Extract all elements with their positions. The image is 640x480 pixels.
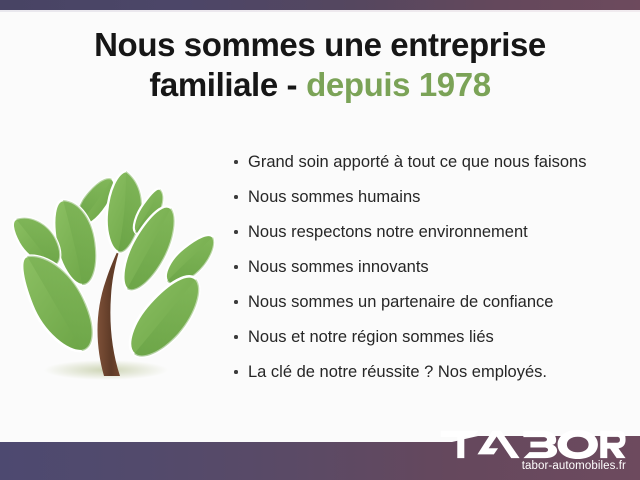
list-item-label: Nous respectons notre environnement — [248, 223, 528, 241]
tabor-wordmark-icon — [439, 429, 627, 459]
brand-url-label: tabor-automobiles.fr — [426, 460, 626, 473]
value-proposition-list: Grand soin apporté à tout ce que nous fa… — [231, 150, 631, 395]
headline-line-2: familiale -depuis 1978 — [0, 66, 640, 104]
top-accent-bar — [0, 0, 640, 10]
list-item-label: Nous sommes innovants — [248, 258, 429, 276]
list-item: Nous sommes humains — [231, 185, 631, 220]
list-item-label: Nous sommes humains — [248, 188, 420, 206]
tree-illustration — [8, 138, 218, 390]
list-item: Nous sommes un partenaire de confiance — [231, 290, 631, 325]
list-item: Nous sommes innovants — [231, 255, 631, 290]
headline-line-1: Nous sommes une entreprise — [0, 26, 640, 64]
bullet-dot-icon — [234, 195, 238, 199]
bullet-dot-icon — [234, 230, 238, 234]
headline-accent-since-year: depuis 1978 — [306, 66, 491, 103]
brand-logo: tabor-automobiles.fr — [426, 429, 626, 473]
list-item: La clé de notre réussite ? Nos employés. — [231, 360, 631, 395]
bullet-dot-icon — [234, 300, 238, 304]
list-item-label: La clé de notre réussite ? Nos employés. — [248, 363, 547, 381]
slide-canvas: Nous sommes une entreprise familiale -de… — [0, 0, 640, 480]
list-item: Grand soin apporté à tout ce que nous fa… — [231, 150, 631, 185]
list-item-label: Nous sommes un partenaire de confiance — [248, 293, 553, 311]
list-item: Nous respectons notre environnement — [231, 220, 631, 255]
list-item: Nous et notre région sommes liés — [231, 325, 631, 360]
list-item-label: Nous et notre région sommes liés — [248, 328, 494, 346]
list-item-label: Grand soin apporté à tout ce que nous fa… — [248, 153, 586, 171]
bullet-dot-icon — [234, 370, 238, 374]
headline-line-2-plain: familiale - — [149, 66, 297, 103]
tree-trunk — [98, 242, 123, 376]
bullet-dot-icon — [234, 160, 238, 164]
page-title: Nous sommes une entreprise familiale -de… — [0, 26, 640, 103]
bullet-dot-icon — [234, 265, 238, 269]
bullet-dot-icon — [234, 335, 238, 339]
top-accent-hairline — [0, 10, 640, 12]
